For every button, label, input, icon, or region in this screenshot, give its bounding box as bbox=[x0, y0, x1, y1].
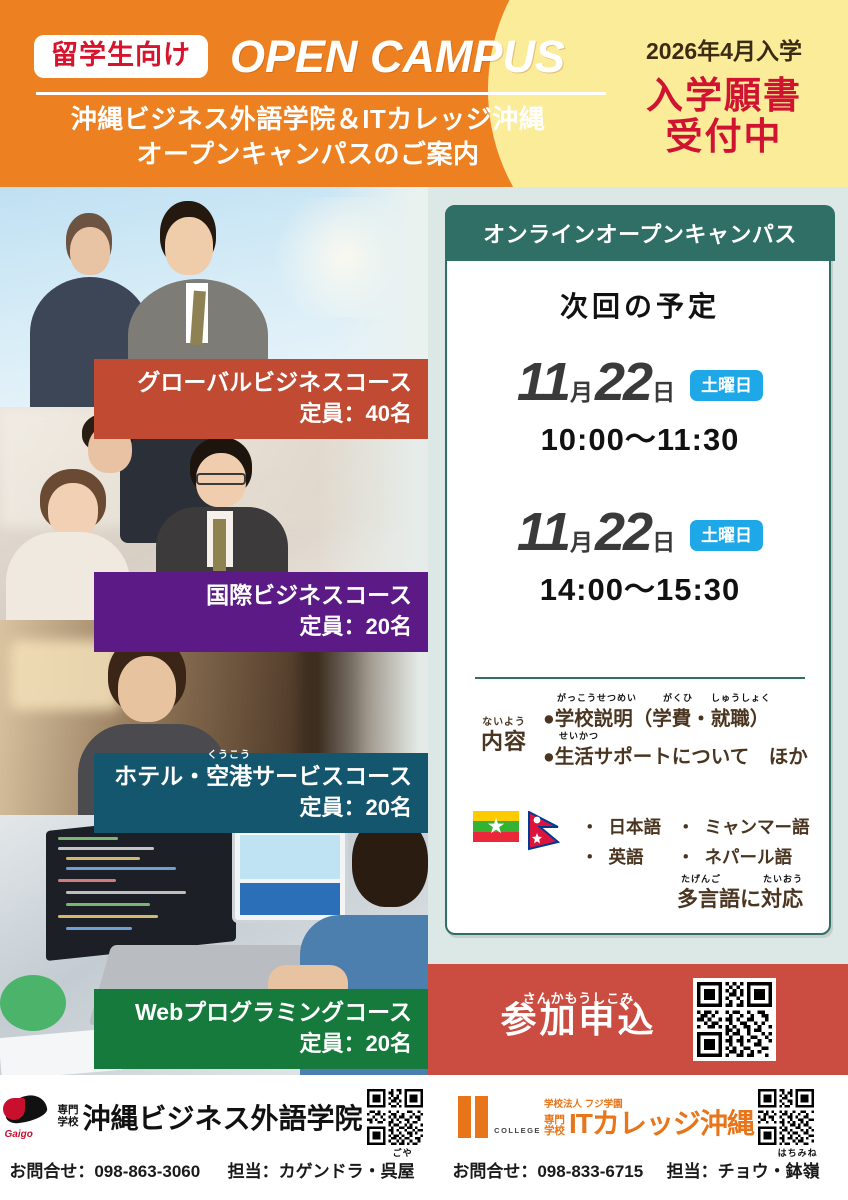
apply-text-group: さんかもうしこみ 参加申込 bbox=[500, 1002, 656, 1038]
poster-root: 留学生向け OPEN CAMPUS 沖縄ビジネス外語学院＆ITカレッジ沖縄 オー… bbox=[0, 0, 848, 1200]
header-subtitle-line1: 沖縄ビジネス外語学院＆ITカレッジ沖縄 bbox=[0, 102, 616, 137]
bullet-icon: ・ bbox=[581, 813, 607, 841]
schedule-day: 22 bbox=[595, 357, 651, 408]
itcollege-school-type-bottom: 学校 bbox=[544, 1126, 565, 1138]
itcollege-name-row: 専門 学校 ITカレッジ沖縄 bbox=[544, 1110, 754, 1138]
multilingual-note: たげんご たいおう 多言語に対応 bbox=[677, 883, 803, 913]
content-item-2: せいかつ ●生活サポートについて ほか bbox=[543, 740, 825, 769]
person-face bbox=[165, 217, 213, 275]
content-label: 内容 bbox=[481, 729, 527, 754]
footer-gaigo-logo-row: Gaigo 専門 学校 沖縄ビジネス外語学院 bbox=[0, 1075, 424, 1145]
header-subtitle: 沖縄ビジネス外語学院＆ITカレッジ沖縄 オープンキャンパスのご案内 bbox=[0, 102, 616, 173]
person-face bbox=[48, 483, 98, 537]
schedule-weekday-badge: 土曜日 bbox=[690, 370, 763, 401]
content-item-2-text: ●生活サポートについて ほか bbox=[543, 746, 808, 768]
course-name-suffix: サービスコース bbox=[252, 763, 412, 789]
itcollege-contact-row: お問合せ：098-833-6715 はちみね 担当：チョウ・鉢嶺 bbox=[424, 1157, 848, 1182]
gaigo-school-type: 専門 学校 bbox=[57, 1105, 78, 1129]
itcollege-staff-label: 担当：チョウ・鉢嶺 bbox=[667, 1162, 820, 1181]
content-item-2-ruby-life: せいかつ bbox=[559, 729, 599, 742]
qr-code-gaigo[interactable] bbox=[367, 1089, 423, 1145]
content-item-1-ruby-job: しゅうしょく bbox=[711, 691, 771, 704]
code-line bbox=[66, 903, 150, 906]
qr-code-itcollege-graphic bbox=[758, 1089, 814, 1145]
apply-label-wrap: さんかもうしこみ 参加申込 bbox=[500, 1002, 656, 1038]
course-name-ruby-base: 空港 bbox=[206, 763, 252, 789]
gaigo-school-type-bottom: 学校 bbox=[57, 1117, 78, 1129]
course-name: グローバルビジネスコース bbox=[110, 369, 412, 395]
schedule-time: 10:00〜11:30 bbox=[447, 414, 833, 459]
necktie bbox=[213, 519, 226, 571]
open-campus-title: OPEN CAMPUS bbox=[230, 34, 565, 79]
schedule-day-unit: 日 bbox=[652, 523, 675, 557]
content-item-1: がっこうせつめい がくひ しゅうしょく ●学校説明（学費・就職） bbox=[543, 702, 825, 731]
multilingual-ruby-1: たげんご bbox=[681, 872, 721, 885]
person-face bbox=[118, 656, 176, 722]
language-row: ・ 日本語 ・ ミャンマー語 bbox=[581, 813, 824, 841]
course-name-prefix: ホテル・ bbox=[114, 763, 206, 789]
course-name: Webプログラミングコース bbox=[110, 999, 412, 1025]
course-capacity: 定員：20名 bbox=[110, 1031, 412, 1056]
gaigo-swoosh-icon: Gaigo bbox=[1, 1094, 53, 1140]
schedule-month-unit: 月 bbox=[570, 523, 593, 557]
qr-code-apply-graphic bbox=[697, 982, 772, 1057]
content-item-1-text: ●学校説明（学費・就職） bbox=[543, 708, 769, 730]
schedule-date-row: 11 月 22 日 土曜日 bbox=[447, 507, 833, 558]
language-japanese: 日本語 bbox=[609, 813, 676, 841]
code-line bbox=[66, 867, 176, 870]
bullet-icon: ・ bbox=[677, 813, 703, 841]
content-item-1-ruby-fee: がくひ bbox=[663, 691, 693, 704]
schedule-month: 11 bbox=[517, 357, 569, 408]
tablet-panel bbox=[240, 883, 340, 915]
next-schedule-title: 次回の予定 bbox=[447, 285, 833, 325]
gaigo-school-name: 沖縄ビジネス外語学院 bbox=[82, 1097, 362, 1137]
header-divider-rule bbox=[36, 92, 606, 95]
content-label-wrap: ないよう 内容 bbox=[465, 724, 543, 756]
itcollege-school-name: ITカレッジ沖縄 bbox=[569, 1110, 754, 1138]
schedule-date-row: 11 月 22 日 土曜日 bbox=[447, 357, 833, 408]
language-list: ・ 日本語 ・ ミャンマー語 ・ 英語 ・ ネパール語 bbox=[579, 811, 826, 874]
itcollege-logo: COLLEGE 学校法人 フジ学園 専門 学校 ITカレッジ沖縄 bbox=[458, 1096, 754, 1138]
schedule-day-unit: 日 bbox=[652, 373, 675, 407]
admission-year-note: 2026年4月入学 bbox=[600, 40, 848, 63]
schedule-month-unit: 月 bbox=[570, 373, 593, 407]
schedule-day: 22 bbox=[595, 507, 651, 558]
multilingual-ruby-2: たいおう bbox=[763, 872, 803, 885]
course-name-ruby: くうこう bbox=[207, 750, 251, 762]
itcollege-mark-icon: COLLEGE bbox=[458, 1096, 541, 1138]
code-line bbox=[58, 837, 118, 840]
language-myanmar: ミャンマー語 bbox=[705, 813, 824, 841]
gaigo-staff-label: 担当：カゲンドラ・呉屋 bbox=[228, 1162, 415, 1181]
header-title-row: 留学生向け OPEN CAMPUS bbox=[34, 34, 565, 79]
content-label-group: ないよう 内容 bbox=[465, 702, 543, 778]
eyeglasses bbox=[196, 473, 246, 485]
qr-code-gaigo-graphic bbox=[367, 1089, 423, 1145]
gaigo-staff-wrap: ごや 担当：カゲンドラ・呉屋 bbox=[228, 1157, 415, 1182]
course-bar-global-business[interactable]: グローバルビジネスコース 定員：40名 bbox=[94, 359, 428, 439]
header-left-group: 留学生向け OPEN CAMPUS 沖縄ビジネス外語学院＆ITカレッジ沖縄 オー… bbox=[0, 0, 620, 187]
language-english: 英語 bbox=[609, 843, 676, 871]
header-subtitle-line2: オープンキャンパスのご案内 bbox=[0, 137, 616, 172]
itcollege-college-word: COLLEGE bbox=[494, 1126, 541, 1135]
course-bar-hotel-airport[interactable]: ホテル・くうこう空港サービスコース 定員：20名 bbox=[94, 753, 428, 833]
course-name: ホテル・くうこう空港サービスコース bbox=[110, 763, 412, 789]
itcollege-bar-2 bbox=[475, 1096, 488, 1138]
schedule-time: 14:00〜15:30 bbox=[447, 564, 833, 609]
itcollege-staff-ruby: はちみね bbox=[778, 1146, 818, 1159]
schedule-entry-1: 11 月 22 日 土曜日 10:00〜11:30 bbox=[447, 357, 833, 459]
schedule-entry-2: 11 月 22 日 土曜日 14:00〜15:30 bbox=[447, 507, 833, 609]
code-line bbox=[66, 857, 140, 860]
online-campus-card-header: オンラインオープンキャンパス bbox=[445, 205, 835, 261]
code-line bbox=[66, 891, 186, 894]
course-name-ruby-group: くうこう空港 bbox=[206, 763, 252, 789]
desk-object bbox=[0, 975, 66, 1031]
course-capacity: 定員：20名 bbox=[110, 614, 412, 639]
gaigo-contact-row: お問合せ：098-863-3060 ごや 担当：カゲンドラ・呉屋 bbox=[0, 1157, 424, 1182]
online-campus-card: オンラインオープンキャンパス 次回の予定 11 月 22 日 土曜日 10:00… bbox=[445, 205, 831, 935]
myanmar-flag-star: ★ bbox=[487, 816, 506, 837]
itcollege-contact-phone: お問合せ：098-833-6715 bbox=[452, 1162, 643, 1181]
language-support-section: ★ ・ 日本語 ・ ミャンマー語 ・ 英語 bbox=[473, 811, 823, 874]
itcollege-school-type: 専門 学校 bbox=[544, 1115, 565, 1139]
course-capacity: 定員：20名 bbox=[110, 795, 412, 820]
course-photo-column: グローバルビジネスコース 定員：40名 国際ビジネスコース 定員：20名 ホテル… bbox=[0, 187, 428, 1075]
content-section: ないよう 内容 がっこうせつめい がくひ しゅうしょく ●学校説明（学費・就職）… bbox=[465, 702, 825, 778]
code-line bbox=[58, 879, 116, 882]
nepal-flag-icon bbox=[528, 811, 562, 851]
admission-callout: 2026年4月入学 入学願書 受付中 bbox=[600, 0, 848, 187]
code-line bbox=[66, 927, 132, 930]
bullet-icon: ・ bbox=[581, 843, 607, 871]
itcollege-bar-1 bbox=[458, 1096, 471, 1138]
qr-code-apply[interactable] bbox=[693, 978, 776, 1061]
itcollege-staff-wrap: はちみね 担当：チョウ・鉢嶺 bbox=[667, 1157, 820, 1182]
card-divider bbox=[475, 677, 805, 679]
footer: Gaigo 専門 学校 沖縄ビジネス外語学院 bbox=[0, 1075, 848, 1200]
itcollege-text-group: 学校法人 フジ学園 専門 学校 ITカレッジ沖縄 bbox=[544, 1096, 754, 1138]
content-items: がっこうせつめい がくひ しゅうしょく ●学校説明（学費・就職） せいかつ ●生… bbox=[543, 702, 825, 778]
myanmar-flag-icon: ★ bbox=[473, 811, 519, 842]
course-name: 国際ビジネスコース bbox=[110, 582, 412, 608]
admission-line2: 受付中 bbox=[600, 116, 848, 157]
code-line bbox=[58, 915, 158, 918]
course-bar-web-programming[interactable]: Webプログラミングコース 定員：20名 bbox=[94, 989, 428, 1069]
schedule-weekday-badge: 土曜日 bbox=[690, 520, 763, 551]
schedule-month: 11 bbox=[517, 507, 569, 558]
code-line bbox=[58, 847, 154, 850]
bullet-icon: ・ bbox=[677, 843, 703, 871]
content-label-ruby: ないよう bbox=[482, 713, 526, 728]
gaigo-wordmark: Gaigo bbox=[4, 1129, 32, 1140]
footer-itcollege-logo-row: COLLEGE 学校法人 フジ学園 専門 学校 ITカレッジ沖縄 bbox=[424, 1075, 848, 1145]
admission-line1: 入学願書 bbox=[600, 75, 848, 116]
language-row: ・ 英語 ・ ネパール語 bbox=[581, 843, 824, 871]
apply-label: 参加申込 bbox=[500, 1002, 656, 1038]
international-student-badge: 留学生向け bbox=[34, 35, 208, 78]
language-nepali: ネパール語 bbox=[705, 843, 824, 871]
person-face bbox=[70, 227, 110, 275]
header-banner: 留学生向け OPEN CAMPUS 沖縄ビジネス外語学院＆ITカレッジ沖縄 オー… bbox=[0, 0, 848, 187]
content-item-1-ruby-school: がっこうせつめい bbox=[557, 691, 637, 704]
apply-ruby: さんかもうしこみ bbox=[523, 988, 635, 1007]
course-capacity: 定員：40名 bbox=[110, 401, 412, 426]
gaigo-staff-ruby: ごや bbox=[393, 1146, 413, 1159]
gaigo-logo: Gaigo 専門 学校 沖縄ビジネス外語学院 bbox=[1, 1094, 362, 1140]
footer-itcollege-section: COLLEGE 学校法人 フジ学園 専門 学校 ITカレッジ沖縄 bbox=[424, 1075, 848, 1200]
qr-code-itcollege[interactable] bbox=[758, 1089, 814, 1145]
tablet-image bbox=[240, 835, 340, 879]
gaigo-contact-phone: お問合せ：098-863-3060 bbox=[9, 1162, 200, 1181]
apply-band[interactable]: さんかもうしこみ 参加申込 bbox=[428, 964, 848, 1075]
footer-gaigo-section: Gaigo 専門 学校 沖縄ビジネス外語学院 bbox=[0, 1075, 424, 1200]
course-bar-international-business[interactable]: 国際ビジネスコース 定員：20名 bbox=[94, 572, 428, 652]
online-campus-column: オンラインオープンキャンパス 次回の予定 11 月 22 日 土曜日 10:00… bbox=[428, 187, 848, 1075]
multilingual-text: 多言語に対応 bbox=[677, 888, 803, 911]
